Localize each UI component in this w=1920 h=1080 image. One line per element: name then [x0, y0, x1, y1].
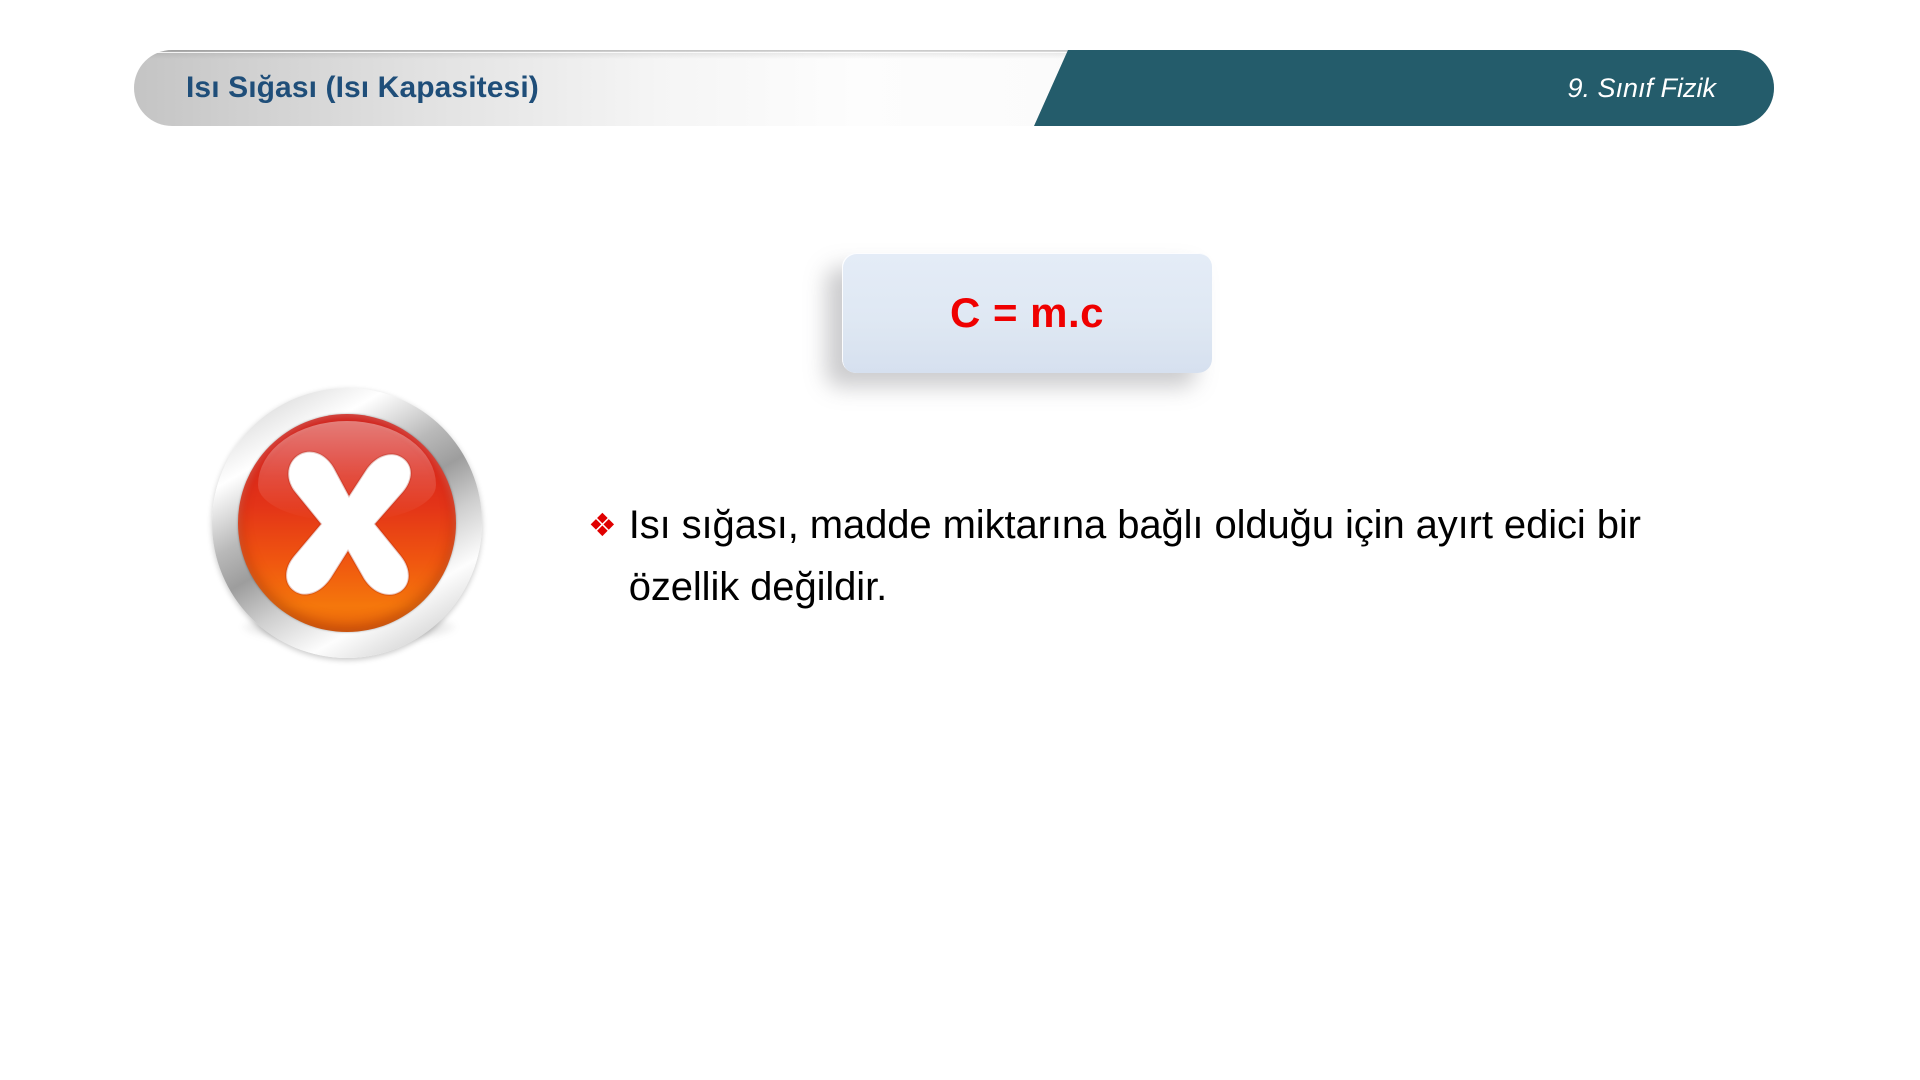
x-mark-icon [238, 414, 456, 632]
bullet-list-item: ❖ Isı sığası, madde miktarına bağlı oldu… [588, 494, 1678, 618]
red-x-badge-icon [212, 388, 482, 658]
badge-red-face [238, 414, 456, 632]
diamond-bullet-icon: ❖ [588, 494, 617, 556]
bullet-text: Isı sığası, madde miktarına bağlı olduğu… [629, 494, 1678, 618]
header-banner: Isı Sığası (Isı Kapasitesi) 9. Sınıf Fiz… [134, 50, 1774, 126]
header-subject-label: 9. Sınıf Fizik [1567, 50, 1716, 126]
formula-box: C = m.c [842, 253, 1212, 373]
page-title: Isı Sığası (Isı Kapasitesi) [186, 50, 539, 126]
formula-text: C = m.c [950, 289, 1104, 337]
